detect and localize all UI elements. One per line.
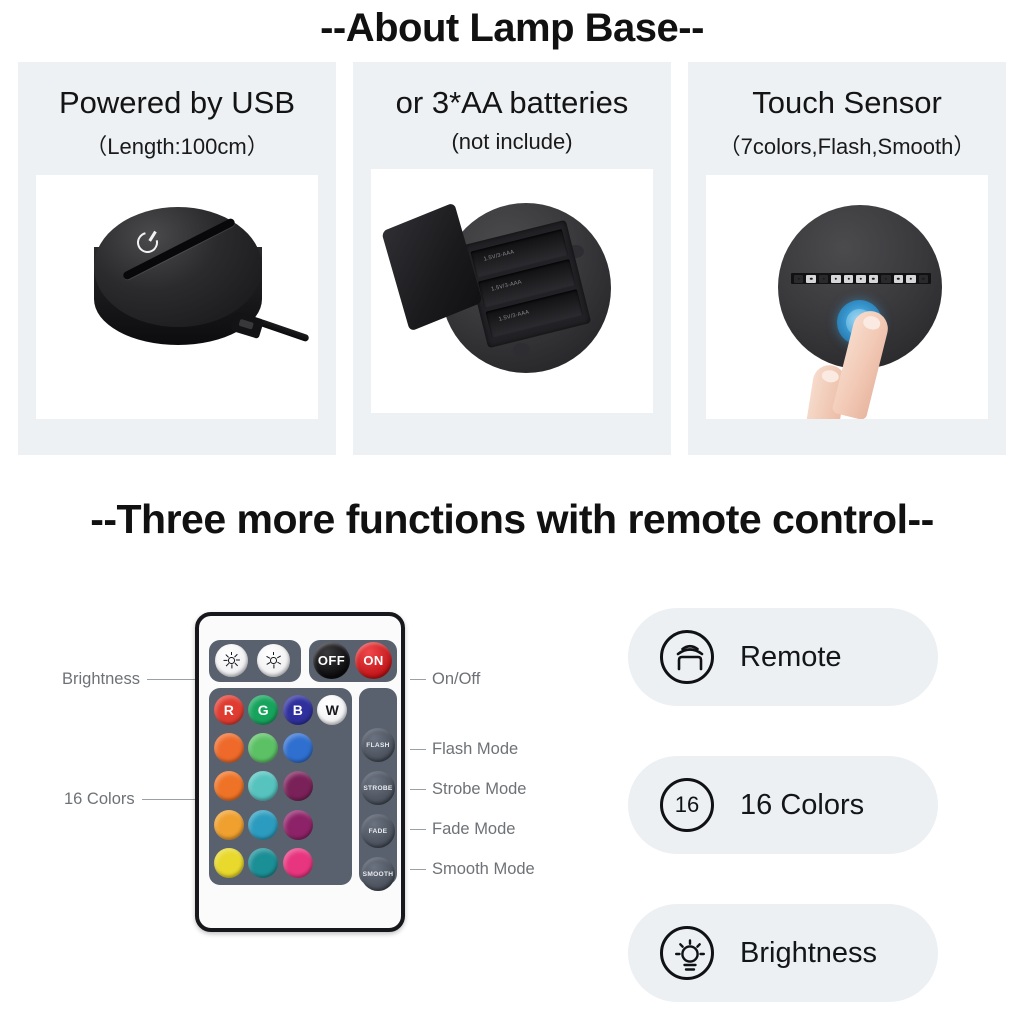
- page-title-about-lamp-base: --About Lamp Base--: [0, 6, 1024, 51]
- card-subtitle: (not include): [451, 129, 572, 155]
- off-button[interactable]: OFF: [313, 642, 350, 679]
- empty-slot: [317, 771, 347, 801]
- led-cell: [869, 275, 878, 283]
- callout-16-colors: 16 Colors: [64, 790, 212, 809]
- feature-pill-remote[interactable]: Remote: [628, 608, 938, 706]
- battery-compartment-photo: 1.5V/3-AAA 1.5V/3-AAA 1.5V/3-AAA: [371, 169, 653, 413]
- on-button[interactable]: ON: [355, 642, 392, 679]
- dark-purple-key[interactable]: [283, 771, 313, 801]
- color-key-label: R: [224, 702, 234, 718]
- green-key[interactable]: G: [248, 695, 278, 725]
- mode-button-column: FLASHSTROBEFADESMOOTH: [361, 728, 395, 891]
- leader-line: [410, 749, 426, 750]
- info-card-batteries: or 3*AA batteries (not include) 1.5V/3-A…: [353, 62, 671, 455]
- sun-dim-icon: [267, 654, 280, 667]
- leader-line: [410, 679, 426, 680]
- color-key-label: W: [326, 702, 339, 718]
- blue-key[interactable]: B: [283, 695, 313, 725]
- battery-slot-label: 1.5V/3-AAA: [491, 279, 523, 292]
- leader-line: [410, 869, 426, 870]
- callout-flash-mode: Flash Mode: [410, 740, 518, 759]
- remote-control: OFF ON RGBW FLASHSTROBEFADESMOOTH: [195, 612, 405, 932]
- usb-plug-icon: [230, 311, 265, 339]
- usb-wire: [258, 319, 309, 343]
- red-key[interactable]: R: [214, 695, 244, 725]
- led-strip: [791, 273, 931, 284]
- light-green-key[interactable]: [248, 733, 278, 763]
- magenta-purple-key[interactable]: [283, 810, 313, 840]
- callout-label: Flash Mode: [432, 740, 518, 759]
- sixteen-circle-icon: 16: [660, 778, 714, 832]
- brightness-down-button[interactable]: [257, 644, 290, 677]
- info-card-row: Powered by USB （Length:100cm） or 3*AA ba…: [18, 62, 1006, 455]
- led-cell: [831, 275, 840, 283]
- callout-label: Fade Mode: [432, 820, 515, 839]
- card-title: Powered by USB: [59, 86, 295, 120]
- led-cell: [856, 275, 865, 283]
- strobe-button[interactable]: STROBE: [361, 771, 395, 805]
- led-cell: [919, 275, 928, 283]
- remote-signal-icon: [660, 630, 714, 684]
- feature-label: Brightness: [740, 937, 877, 970]
- yellow-key[interactable]: [214, 848, 244, 878]
- feature-label: Remote: [740, 641, 842, 674]
- card-title: or 3*AA batteries: [396, 86, 629, 120]
- teal-key[interactable]: [248, 848, 278, 878]
- info-card-usb: Powered by USB （Length:100cm）: [18, 62, 336, 455]
- rubber-foot: [513, 343, 530, 356]
- battery-slot-label: 1.5V/3-AAA: [483, 249, 515, 262]
- callout-label: 16 Colors: [64, 790, 135, 809]
- remote-diagram: Brightness 16 Colors On/Off Flash Mode S…: [40, 600, 600, 960]
- fade-button[interactable]: FADE: [361, 814, 395, 848]
- led-cell: [894, 275, 903, 283]
- led-cell: [906, 275, 915, 283]
- led-cell: [819, 275, 828, 283]
- callout-label: On/Off: [432, 670, 480, 689]
- flash-button[interactable]: FLASH: [361, 728, 395, 762]
- callout-smooth-mode: Smooth Mode: [410, 860, 535, 879]
- feature-pill-16-colors[interactable]: 16 16 Colors: [628, 756, 938, 854]
- empty-slot: [317, 810, 347, 840]
- led-cell: [844, 275, 853, 283]
- callout-strobe-mode: Strobe Mode: [410, 780, 526, 799]
- page-title-three-more-functions: --Three more functions with remote contr…: [0, 496, 1024, 543]
- callout-on-off: On/Off: [410, 670, 480, 689]
- led-cell: [794, 275, 803, 283]
- turquoise-key[interactable]: [248, 771, 278, 801]
- amber-key[interactable]: [214, 810, 244, 840]
- battery-slot-label: 1.5V/3-AAA: [498, 310, 530, 323]
- lamp-base-usb-photo: [36, 175, 318, 419]
- color-button-grid: RGBW: [212, 691, 349, 882]
- color-key-label: B: [293, 702, 303, 718]
- brightness-up-button[interactable]: [215, 644, 248, 677]
- card-subtitle: （Length:100cm）: [85, 129, 268, 161]
- white-key[interactable]: W: [317, 695, 347, 725]
- sun-bright-icon: [225, 654, 238, 667]
- leader-line: [410, 829, 426, 830]
- usb-cable: [232, 315, 306, 326]
- empty-slot: [317, 848, 347, 878]
- light-bulb-icon: [660, 926, 714, 980]
- base-top-face: [94, 207, 262, 327]
- pink-key[interactable]: [283, 848, 313, 878]
- card-subtitle: （7colors,Flash,Smooth）: [719, 129, 976, 161]
- orange-key[interactable]: [214, 733, 244, 763]
- feature-label: 16 Colors: [740, 789, 864, 822]
- callout-label: Strobe Mode: [432, 780, 526, 799]
- callout-fade-mode: Fade Mode: [410, 820, 515, 839]
- sixteen-badge-number: 16: [663, 781, 711, 829]
- led-cell: [806, 275, 815, 283]
- medium-blue-key[interactable]: [283, 733, 313, 763]
- dark-orange-key[interactable]: [214, 771, 244, 801]
- color-key-label: G: [258, 702, 269, 718]
- product-info-page: --About Lamp Base-- Powered by USB （Leng…: [0, 0, 1024, 1024]
- card-title: Touch Sensor: [752, 86, 942, 120]
- feature-pill-list: Remote 16 16 Colors Brig: [628, 608, 938, 1002]
- callout-label: Brightness: [62, 670, 140, 689]
- info-card-touch-sensor: Touch Sensor （7colors,Flash,Smooth）: [688, 62, 1006, 455]
- feature-pill-brightness[interactable]: Brightness: [628, 904, 938, 1002]
- leader-line: [410, 789, 426, 790]
- led-cell: [881, 275, 890, 283]
- touch-sensor-photo: [706, 175, 988, 419]
- cyan-blue-key[interactable]: [248, 810, 278, 840]
- callout-brightness: Brightness: [62, 670, 209, 689]
- callout-label: Smooth Mode: [432, 860, 535, 879]
- empty-slot: [317, 733, 347, 763]
- smooth-button[interactable]: SMOOTH: [361, 857, 395, 891]
